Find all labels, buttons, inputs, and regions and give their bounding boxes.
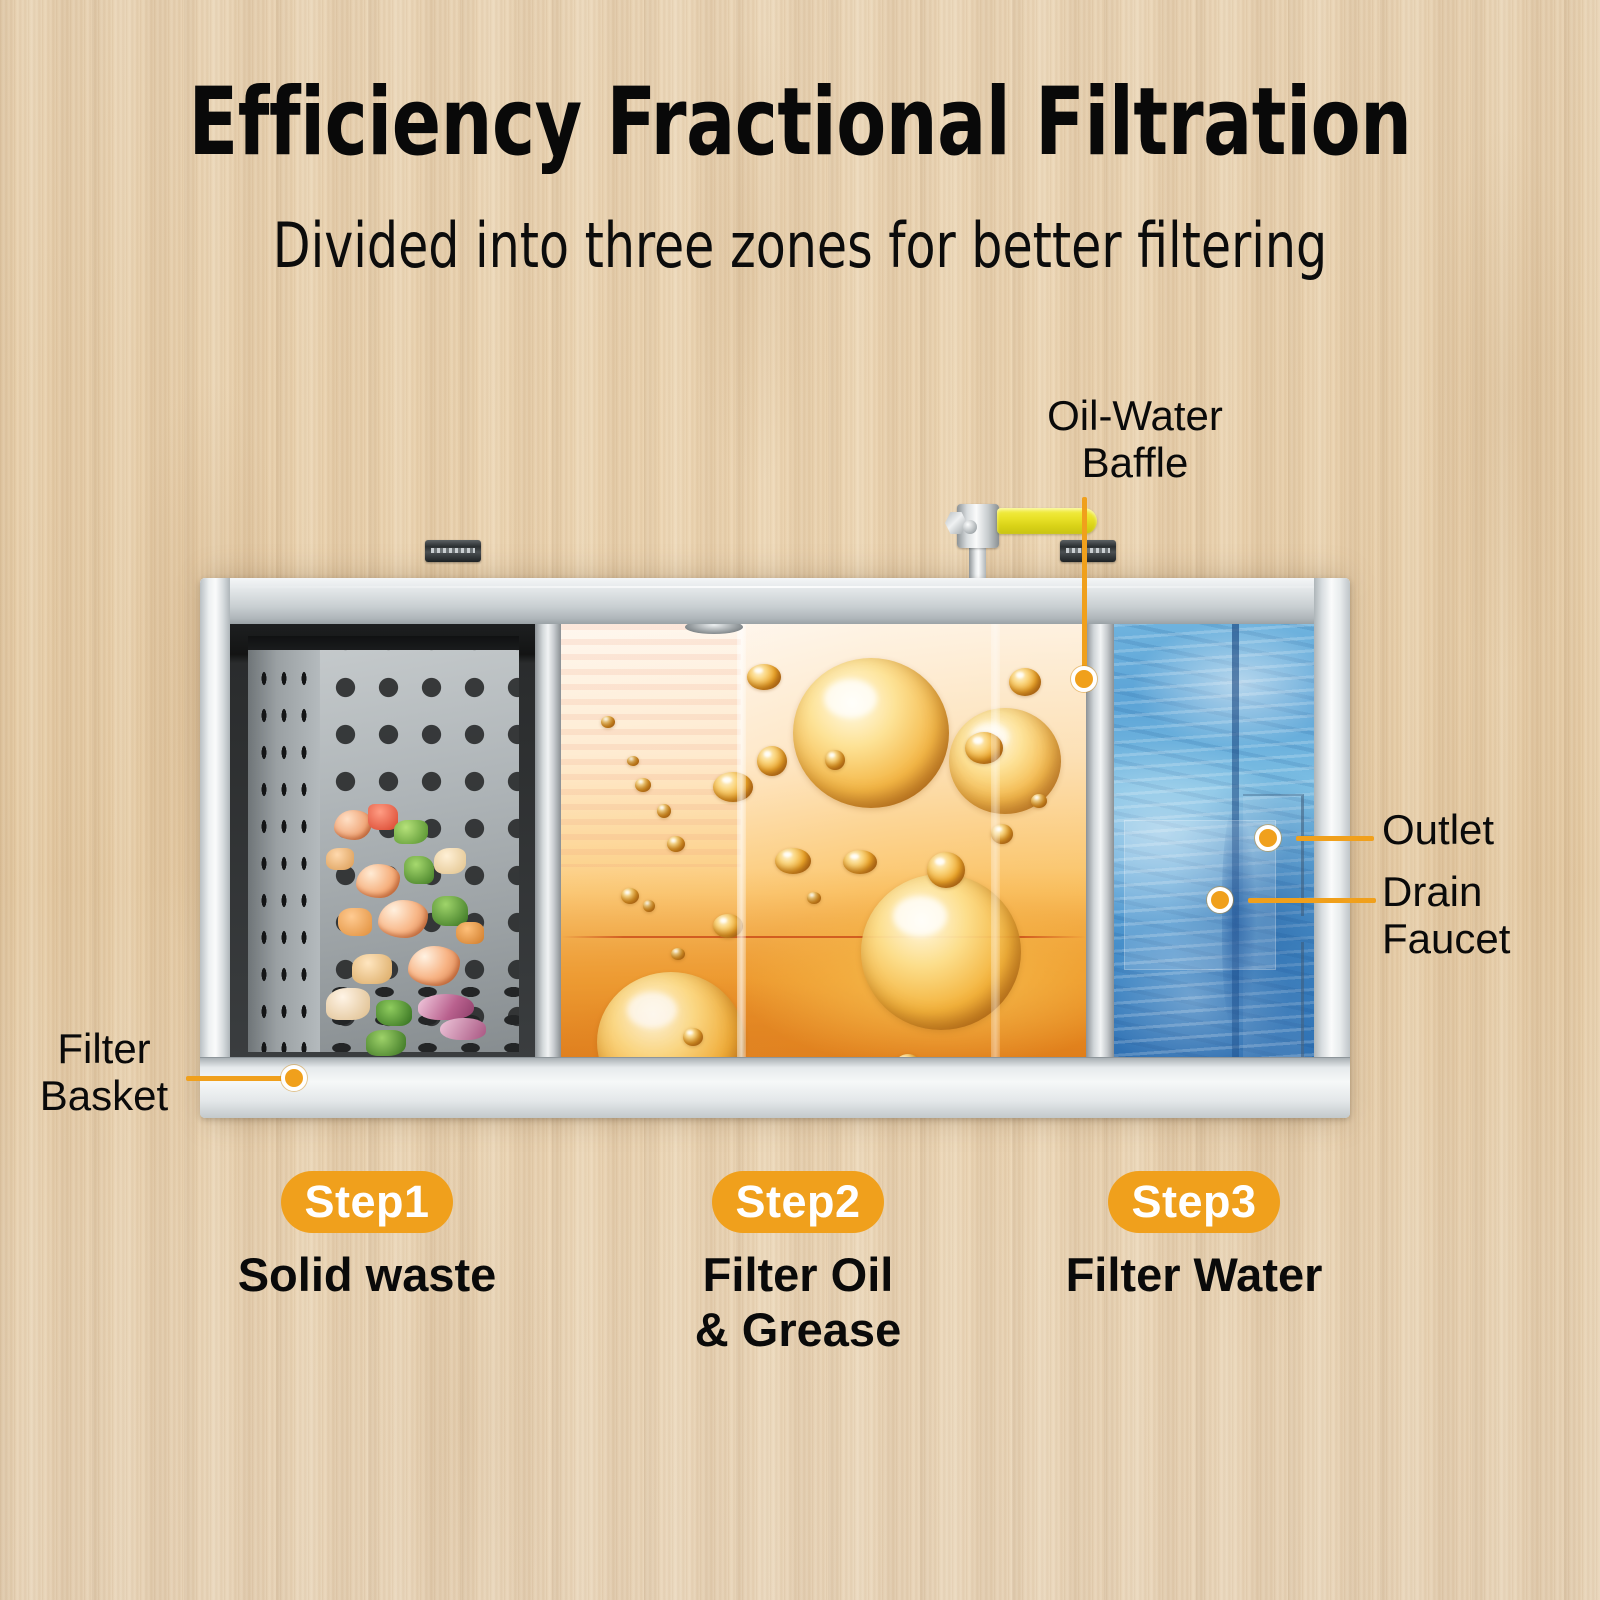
step-badge-2[interactable]: Step2: [712, 1171, 884, 1233]
leader-line-oil-water-baffle: [1082, 497, 1087, 679]
callout-filter-basket-label: Filter Basket: [14, 1025, 194, 1119]
basket-slot-perforations: [248, 650, 320, 1052]
oil-droplet: [927, 852, 965, 888]
oil-droplet: [683, 1028, 703, 1046]
oil-droplet: [643, 900, 655, 912]
marker-dot-outlet: [1255, 825, 1281, 851]
grease-trap-product-image: [200, 560, 1350, 1120]
hinge-clip-left: [425, 540, 481, 562]
oil-droplet: [807, 892, 821, 904]
filter-basket-zone: [230, 624, 535, 1058]
scrap-piece: [356, 864, 400, 898]
hinge-clip-right: [1060, 540, 1116, 562]
scrap-piece: [394, 820, 428, 844]
page-subtitle: Divided into three zones for better filt…: [96, 215, 1504, 277]
scrap-piece: [334, 810, 372, 840]
page-title: Efficiency Fractional Filtration: [112, 76, 1488, 170]
scrap-piece: [376, 1000, 412, 1026]
step-badge-3[interactable]: Step3: [1108, 1171, 1280, 1233]
marker-dot-filter-basket: [281, 1065, 307, 1091]
basket-side-wall: [248, 650, 320, 1052]
step-label-3: Filter Water: [1014, 1248, 1374, 1303]
oil-droplet: [775, 848, 811, 874]
step-label-1: Solid waste: [187, 1248, 547, 1303]
oil-droplet: [635, 778, 651, 792]
oil-bubble: [793, 658, 949, 808]
marker-dot-drain-faucet: [1207, 887, 1233, 913]
bottom-rim: [200, 1057, 1350, 1118]
oil-droplet: [825, 750, 845, 770]
callout-drain-faucet-label: Drain Faucet: [1382, 868, 1600, 962]
oil-droplet: [621, 888, 639, 904]
callout-outlet-label: Outlet: [1382, 806, 1600, 853]
inner-glass-pane: [737, 624, 746, 1058]
scrap-piece: [404, 856, 434, 884]
scrap-piece: [338, 908, 372, 936]
scrap-piece: [378, 900, 428, 938]
tank-interior: [230, 624, 1314, 1058]
leader-line-drain-faucet: [1248, 898, 1376, 903]
oil-grease-zone: [561, 624, 1086, 1058]
oil-droplet: [1031, 794, 1047, 808]
scrap-piece: [408, 946, 460, 986]
stainless-steel-housing: [200, 578, 1350, 1118]
inner-glass-pane: [991, 624, 1000, 1058]
scrap-piece: [326, 848, 354, 870]
scrap-piece: [326, 988, 370, 1020]
infographic-canvas: Efficiency Fractional Filtration Divided…: [0, 0, 1600, 1600]
scrap-piece: [440, 1018, 486, 1040]
step-badge-1[interactable]: Step1: [281, 1171, 453, 1233]
scrap-piece: [418, 994, 474, 1020]
step-label-2: Filter Oil & Grease: [618, 1248, 978, 1357]
oil-droplet: [627, 756, 639, 766]
right-rail: [1314, 578, 1350, 1118]
oil-droplet: [843, 850, 877, 874]
divider-basket-to-oil: [535, 624, 561, 1058]
oil-zone-stripe-texture: [561, 624, 741, 867]
oil-droplet: [657, 804, 671, 818]
scrap-piece: [456, 922, 484, 944]
oil-droplet: [1009, 668, 1041, 696]
water-zone: [1114, 624, 1314, 1058]
scrap-piece: [366, 1030, 406, 1056]
food-waste-scraps: [322, 804, 507, 1058]
scrap-piece: [352, 954, 392, 984]
oil-droplet: [667, 836, 685, 852]
marker-dot-oil-water-baffle: [1071, 666, 1097, 692]
valve-pivot-pin-icon: [963, 520, 977, 534]
scrap-piece: [434, 848, 466, 874]
callout-oil-water-baffle-label: Oil-Water Baffle: [985, 392, 1285, 486]
oil-droplet: [671, 948, 685, 960]
drain-faucet-plate: [1243, 942, 1304, 1058]
oil-droplet: [713, 772, 753, 802]
oil-droplet: [747, 664, 781, 690]
oil-droplet: [757, 746, 787, 776]
oil-droplet: [601, 716, 615, 728]
left-rail: [200, 578, 230, 1118]
leader-line-outlet: [1296, 836, 1374, 841]
top-rim: [200, 578, 1350, 625]
